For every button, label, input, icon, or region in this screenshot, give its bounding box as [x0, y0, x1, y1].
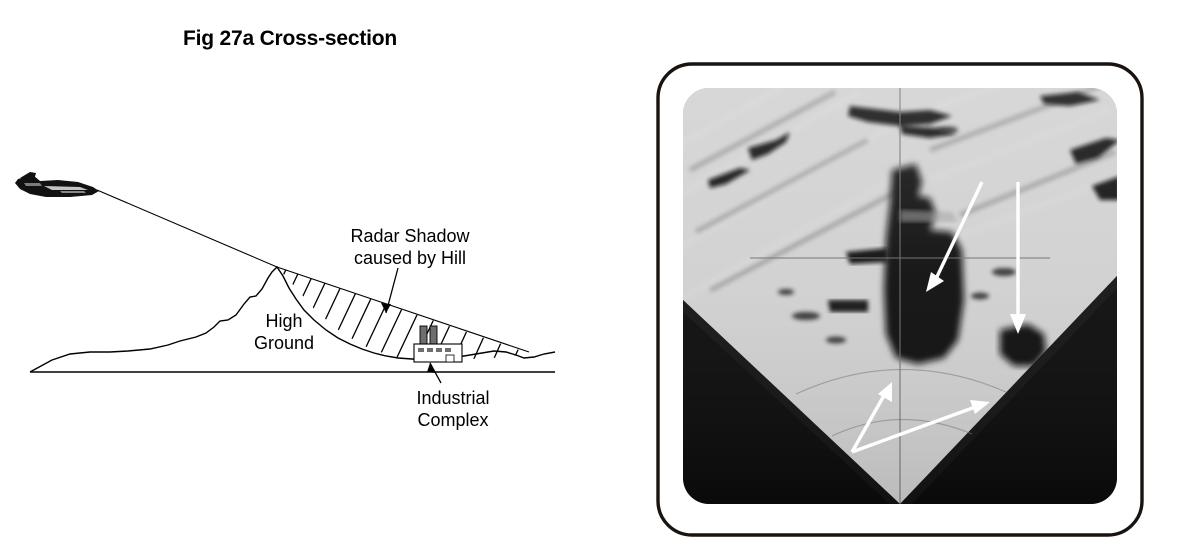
aircraft-icon: [15, 172, 99, 197]
label-high-ground: High Ground: [232, 311, 336, 354]
radar-screen: [670, 60, 1121, 510]
label-industrial-complex: Industrial Complex: [386, 388, 520, 431]
label-radar-shadow: Radar Shadow caused by Hill: [330, 226, 490, 269]
figure-a-title: Fig 27a Cross-section: [0, 27, 580, 51]
factory-icon: [414, 326, 462, 362]
radar-display-drawing: [600, 0, 1200, 559]
figure-cross-section: Fig 27a Cross-section: [0, 0, 600, 559]
figure-radar-display: Fig 27b Radar Display: [600, 0, 1200, 559]
cross-section-drawing: [0, 0, 600, 559]
